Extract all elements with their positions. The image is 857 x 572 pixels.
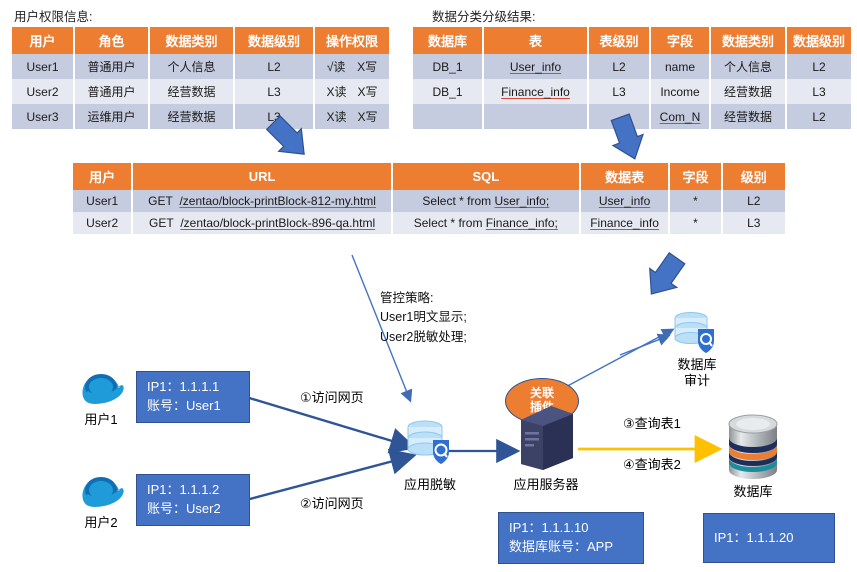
step-1-label: ①访问网页 — [300, 387, 364, 406]
step-3-label: ③查询表1 — [623, 413, 681, 432]
app-server-label: 应用服务器 — [500, 477, 592, 493]
database-label: 数据库 — [713, 484, 793, 500]
policy-note: 管控策略: User1明文显示; User2脱敏处理; — [380, 289, 467, 347]
client2-label: 用户2 — [70, 515, 132, 531]
internet-explorer-icon — [78, 472, 126, 514]
database-ip: IP1：1.1.1.20 — [714, 529, 794, 548]
database-info-box: IP1：1.1.1.20 — [703, 513, 835, 563]
step-2-label: ②访问网页 — [300, 493, 364, 512]
masking-node-label: 应用脱敏 — [390, 477, 470, 493]
application-server-icon — [513, 398, 579, 474]
application-masking-icon — [405, 418, 453, 468]
database-audit-icon — [672, 310, 718, 358]
client2-ip: IP1：1.1.1.2 — [147, 481, 239, 500]
client2-info-box: IP1：1.1.1.2 账号：User2 — [136, 474, 250, 526]
policy-note-title: 管控策略: — [380, 289, 467, 308]
app-server-ip: IP1：1.1.1.10 — [509, 519, 633, 538]
internet-explorer-icon — [78, 369, 126, 411]
policy-note-line2: User2脱敏处理; — [380, 328, 467, 347]
client1-ip: IP1：1.1.1.1 — [147, 378, 239, 397]
app-server-info-box: IP1：1.1.1.10 数据库账号：APP — [498, 512, 644, 564]
database-audit-label-line1: 数据库 — [655, 357, 739, 373]
client1-account: 账号：User1 — [147, 397, 239, 416]
client2-account: 账号：User2 — [147, 500, 239, 519]
database-audit-label: 数据库 审计 — [655, 357, 739, 390]
client1-info-box: IP1：1.1.1.1 账号：User1 — [136, 371, 250, 423]
client1-label: 用户1 — [70, 412, 132, 428]
database-audit-label-line2: 审计 — [655, 373, 739, 389]
policy-note-line1: User1明文显示; — [380, 308, 467, 327]
arrow-database-to-audit-table — [636, 258, 696, 310]
step-4-label: ④查询表2 — [623, 454, 681, 473]
database-icon — [722, 412, 784, 484]
app-server-account: 数据库账号：APP — [509, 538, 633, 557]
